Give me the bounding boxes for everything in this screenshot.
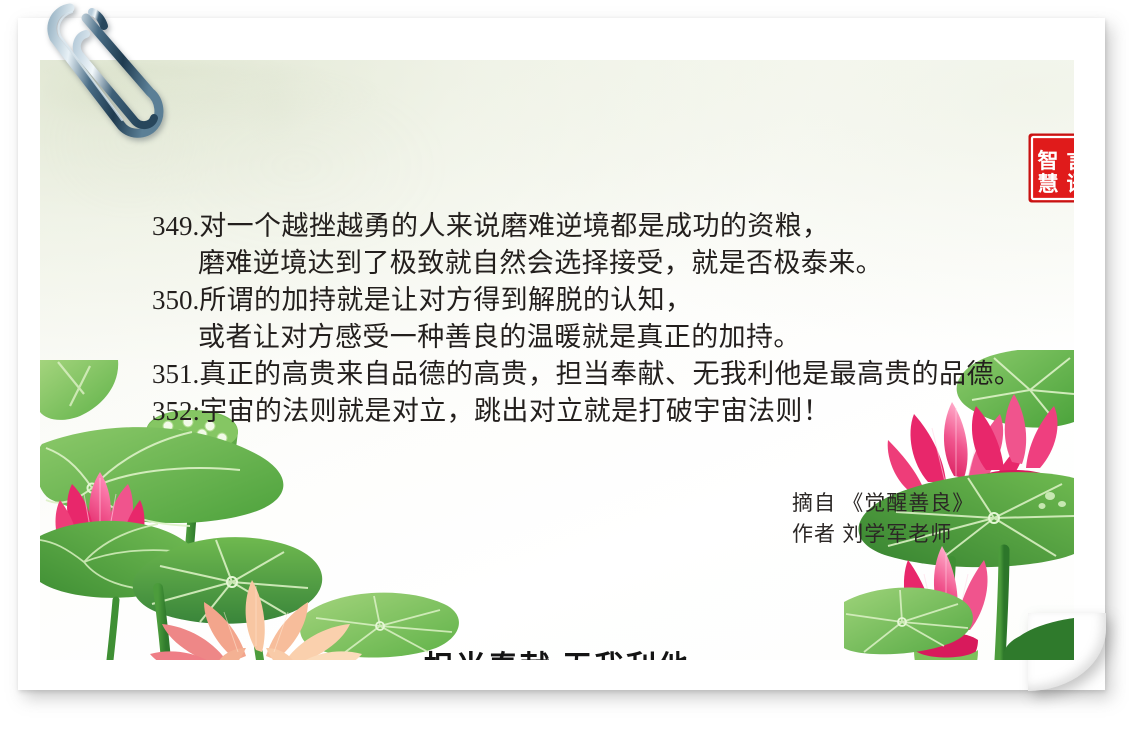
- slogan-line-1: 担当奉献 无我利他: [40, 648, 1074, 660]
- quote-text: 对一个越挫越勇的人来说磨难逆境都是成功的资粮，: [199, 211, 829, 241]
- quote-card: 智 言 慧 语 349.对一个越挫越勇的人来说磨难逆境都是成功的资粮， 磨难逆境…: [18, 18, 1105, 690]
- svg-text:慧: 慧: [1038, 172, 1059, 196]
- quote-number-352: 352:: [152, 396, 200, 426]
- quote-number-351: 351.: [152, 359, 199, 389]
- quote-text: 真正的高贵来自品德的高贵，担当奉献、无我利他是最高贵的品德。: [199, 359, 1021, 389]
- quote-text: 或者让对方感受一种善良的温暖就是真正的加持。: [198, 322, 801, 352]
- quote-line-351-1: 351.真正的高贵来自品德的高贵，担当奉献、无我利他是最高贵的品德。: [152, 356, 1074, 393]
- quote-number-350: 350.: [152, 285, 199, 315]
- svg-text:智: 智: [1038, 149, 1059, 173]
- quote-line-350-2: 或者让对方感受一种善良的温暖就是真正的加持。: [152, 319, 1074, 356]
- quote-list: 349.对一个越挫越勇的人来说磨难逆境都是成功的资粮， 磨难逆境达到了极致就自然…: [152, 208, 1074, 430]
- quote-line-349-1: 349.对一个越挫越勇的人来说磨难逆境都是成功的资粮，: [152, 208, 1074, 245]
- quote-line-349-2: 磨难逆境达到了极致就自然会选择接受，就是否极泰来。: [152, 245, 1074, 282]
- quote-line-352-1: 352:宇宙的法则就是对立，跳出对立就是打破宇宙法则！: [152, 393, 1074, 430]
- quote-text: 宇宙的法则就是对立，跳出对立就是打破宇宙法则！: [200, 396, 830, 426]
- quote-text: 磨难逆境达到了极致就自然会选择接受，就是否极泰来。: [198, 248, 883, 278]
- slogan-block: 担当奉献 无我利他 圣贤文化教育 振兴精神文化: [40, 648, 1074, 660]
- attribution: 摘自 《觉醒善良》 作者 刘学军老师: [792, 488, 974, 550]
- quote-number-349: 349.: [152, 211, 199, 241]
- quote-line-350-1: 350.所谓的加持就是让对方得到解脱的认知，: [152, 282, 1074, 319]
- attribution-source: 摘自 《觉醒善良》: [792, 488, 974, 519]
- zhi-yan-hui-yu-seal: 智 言 慧 语: [1028, 133, 1074, 203]
- svg-text:语: 语: [1067, 172, 1075, 196]
- quote-text: 所谓的加持就是让对方得到解脱的认知，: [199, 285, 692, 315]
- attribution-author: 作者 刘学军老师: [792, 519, 974, 550]
- svg-text:言: 言: [1067, 149, 1075, 173]
- card-paper-surface: 智 言 慧 语 349.对一个越挫越勇的人来说磨难逆境都是成功的资粮， 磨难逆境…: [40, 60, 1074, 660]
- screenshot-root: 智 言 慧 语 349.对一个越挫越勇的人来说磨难逆境都是成功的资粮， 磨难逆境…: [0, 0, 1129, 737]
- paperclip-icon: [34, 0, 164, 140]
